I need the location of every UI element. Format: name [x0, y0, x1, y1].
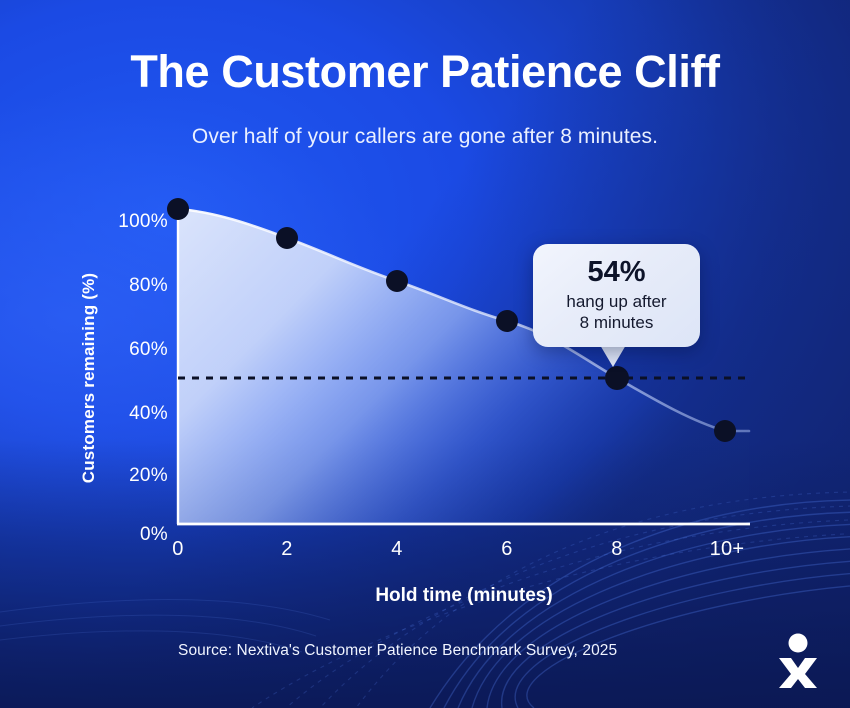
- x-tick-0: 0: [172, 538, 183, 561]
- callout-box: 54% hang up after 8 minutes: [533, 244, 700, 347]
- data-point-10: [714, 420, 736, 442]
- x-tick-6: 6: [501, 538, 512, 561]
- data-point-2: [276, 227, 298, 249]
- data-point-4: [386, 270, 408, 292]
- data-point-6: [496, 310, 518, 332]
- x-tick-2: 2: [281, 538, 292, 561]
- nextiva-logo: [774, 632, 822, 688]
- data-point-0: [167, 198, 189, 220]
- callout-line-1: hang up after: [541, 292, 692, 313]
- x-tick-8: 8: [611, 538, 622, 561]
- callout-percent: 54%: [541, 257, 692, 289]
- x-tick-10plus: 10+: [710, 538, 745, 561]
- callout-tail: [600, 345, 626, 367]
- chart-container: Customers remaining (%) 100% 80% 60% 40%…: [0, 0, 850, 708]
- x-axis-label: Hold time (minutes): [178, 585, 750, 607]
- x-tick-4: 4: [391, 538, 402, 561]
- source-citation: Source: Nextiva's Customer Patience Benc…: [178, 642, 617, 660]
- callout-line-2: 8 minutes: [541, 313, 692, 334]
- data-point-8: [605, 366, 629, 390]
- infographic-canvas: The Customer Patience Cliff Over half of…: [0, 0, 850, 708]
